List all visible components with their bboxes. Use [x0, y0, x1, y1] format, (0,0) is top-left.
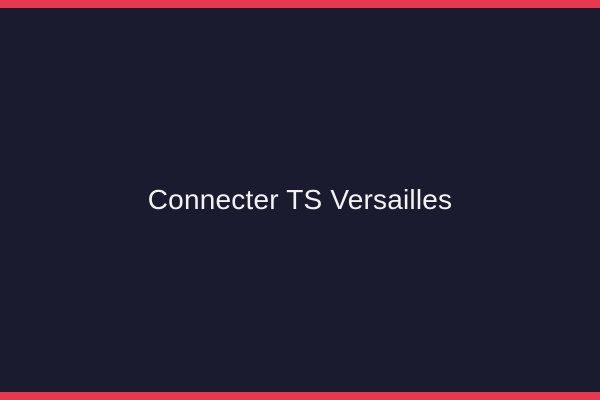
page-title: Connecter TS Versailles — [148, 183, 452, 217]
top-accent-bar — [0, 0, 600, 8]
slide-container: Connecter TS Versailles — [0, 0, 600, 400]
bottom-accent-bar — [0, 392, 600, 400]
content-stage: Connecter TS Versailles — [0, 8, 600, 392]
